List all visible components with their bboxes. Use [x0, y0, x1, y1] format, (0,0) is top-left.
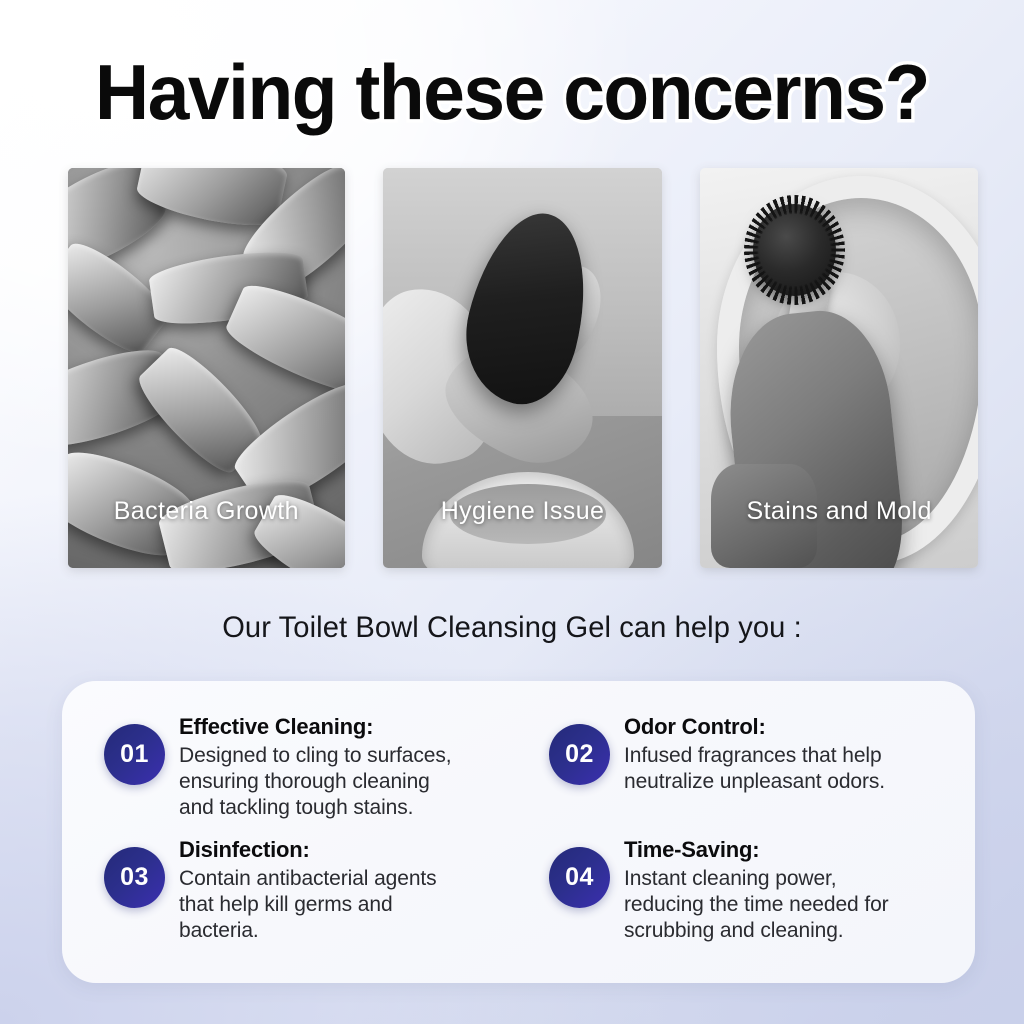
benefit-description-02: Infused fragrances that help neutralize … — [624, 743, 885, 795]
benefit-number-badge-02: 02 — [549, 724, 610, 785]
benefit-title-01: Effective Cleaning: — [179, 714, 451, 741]
benefits-card: 01 Effective Cleaning: Designed to cling… — [62, 681, 975, 983]
concern-panel-bacteria-growth: Bacteria Growth — [68, 168, 345, 568]
concern-panel-stains-and-mold: Stains and Mold — [700, 168, 978, 568]
benefit-number-badge-01: 01 — [104, 724, 165, 785]
benefit-item-03: 03 Disinfection: Contain antibacterial a… — [104, 837, 549, 944]
benefit-item-01: 01 Effective Cleaning: Designed to cling… — [104, 714, 549, 821]
benefit-item-02: 02 Odor Control: Infused fragrances that… — [549, 714, 953, 821]
benefit-title-03: Disinfection: — [179, 837, 437, 864]
benefit-description-01: Designed to cling to surfaces, ensuring … — [179, 743, 451, 821]
benefit-number-badge-04: 04 — [549, 847, 610, 908]
benefits-grid: 01 Effective Cleaning: Designed to cling… — [104, 714, 953, 944]
benefit-title-02: Odor Control: — [624, 714, 885, 741]
subheading: Our Toilet Bowl Cleansing Gel can help y… — [15, 611, 1008, 645]
benefit-title-04: Time-Saving: — [624, 837, 889, 864]
concern-panels: Bacteria Growth Hygiene Issue — [68, 168, 978, 568]
page-title: Having these concerns? — [20, 52, 1003, 134]
promo-poster: Having these concerns? Bacteria Growth — [0, 0, 1024, 1024]
benefit-description-04: Instant cleaning power, reducing the tim… — [624, 866, 889, 944]
benefit-description-03: Contain antibacterial agents that help k… — [179, 866, 437, 944]
concern-caption-stains-and-mold: Stains and Mold — [700, 497, 978, 526]
benefit-number-badge-03: 03 — [104, 847, 165, 908]
benefit-item-04: 04 Time-Saving: Instant cleaning power, … — [549, 837, 953, 944]
concern-caption-bacteria-growth: Bacteria Growth — [68, 497, 345, 526]
concern-panel-hygiene-issue: Hygiene Issue — [383, 168, 663, 568]
concern-caption-hygiene-issue: Hygiene Issue — [383, 497, 663, 526]
